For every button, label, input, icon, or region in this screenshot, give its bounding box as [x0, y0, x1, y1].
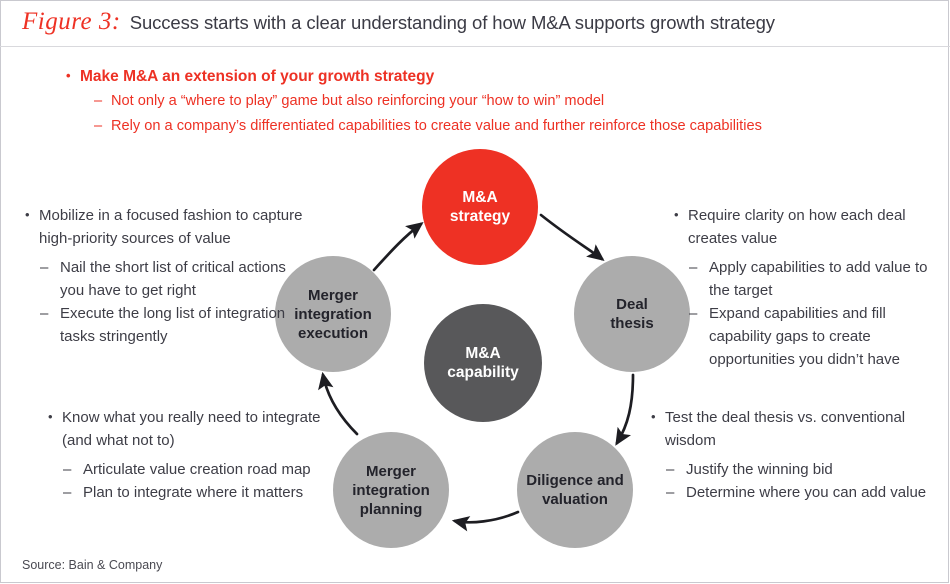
- arrow-planning-to-execution: [323, 375, 357, 434]
- node-ma-capability[interactable]: M&A capability: [424, 304, 542, 422]
- callout-bottom-left-sub-2: Plan to integrate where it matters: [47, 481, 322, 504]
- node-ma-strategy-line1: M&A: [462, 188, 497, 207]
- callout-bottom-right: Test the deal thesis vs. conventional wi…: [650, 406, 940, 504]
- callout-bottom-right-sub-2: Determine where you can add value: [650, 481, 940, 504]
- top-bullet-primary: Make M&A an extension of your growth str…: [66, 66, 906, 87]
- node-diligence-valuation[interactable]: Diligence and valuation: [517, 432, 633, 548]
- title-divider: [0, 46, 950, 47]
- callout-bottom-left-sub-1: Articulate value creation road map: [47, 458, 322, 481]
- node-ma-capability-line1: M&A: [465, 344, 500, 363]
- node-deal-thesis-line1: Deal: [616, 295, 648, 314]
- node-deal-thesis-line2: thesis: [610, 314, 653, 333]
- callout-bottom-left-bullet: Know what you really need to integrate (…: [47, 406, 322, 452]
- node-ma-strategy[interactable]: M&A strategy: [422, 149, 538, 265]
- callout-bottom-right-sub-1: Justify the winning bid: [650, 458, 940, 481]
- callout-top-right-sub-1: Apply capabilities to add value to the t…: [673, 256, 941, 302]
- callout-bottom-right-bullet: Test the deal thesis vs. conventional wi…: [650, 406, 940, 452]
- node-merger-integration-planning-line1: Merger: [366, 462, 416, 481]
- callout-top-right-bullet: Require clarity on how each deal creates…: [673, 204, 941, 250]
- top-bullet-block: Make M&A an extension of your growth str…: [66, 66, 906, 137]
- callout-top-left-sub-1: Nail the short list of critical actions …: [24, 256, 314, 302]
- callout-top-right-sub-2: Expand capabilities and fill capability …: [673, 302, 941, 371]
- node-merger-integration-planning[interactable]: Merger integration planning: [333, 432, 449, 548]
- figure-title: Figure 3: Success starts with a clear un…: [22, 8, 932, 44]
- top-bullet-sub-2: Rely on a company’s differentiated capab…: [66, 115, 906, 137]
- node-merger-integration-execution-line1: Merger: [308, 286, 358, 305]
- callout-top-left: Mobilize in a focused fashion to capture…: [24, 204, 314, 348]
- node-ma-capability-line2: capability: [447, 363, 519, 382]
- node-merger-integration-planning-line3: planning: [360, 500, 423, 519]
- callout-bottom-left: Know what you really need to integrate (…: [47, 406, 322, 504]
- figure-number-label: Figure 3:: [22, 8, 121, 36]
- arrow-diligence-to-planning: [455, 512, 518, 522]
- top-bullet-sub-1: Not only a “where to play” game but also…: [66, 90, 906, 112]
- arrow-execution-to-strategy: [374, 224, 421, 270]
- node-diligence-valuation-line2: valuation: [542, 490, 608, 509]
- arrow-deal-to-diligence: [617, 375, 633, 443]
- callout-top-right: Require clarity on how each deal creates…: [673, 204, 941, 371]
- callout-top-left-sub-2: Execute the long list of integration tas…: [24, 302, 314, 348]
- source-note: Source: Bain & Company: [22, 558, 162, 572]
- node-diligence-valuation-line1: Diligence and: [526, 471, 624, 490]
- callout-top-left-bullet: Mobilize in a focused fashion to capture…: [24, 204, 314, 250]
- arrow-strategy-to-deal: [541, 215, 602, 259]
- node-ma-strategy-line2: strategy: [450, 207, 510, 226]
- node-merger-integration-planning-line2: integration: [352, 481, 430, 500]
- figure-title-text: Success starts with a clear understandin…: [130, 12, 775, 34]
